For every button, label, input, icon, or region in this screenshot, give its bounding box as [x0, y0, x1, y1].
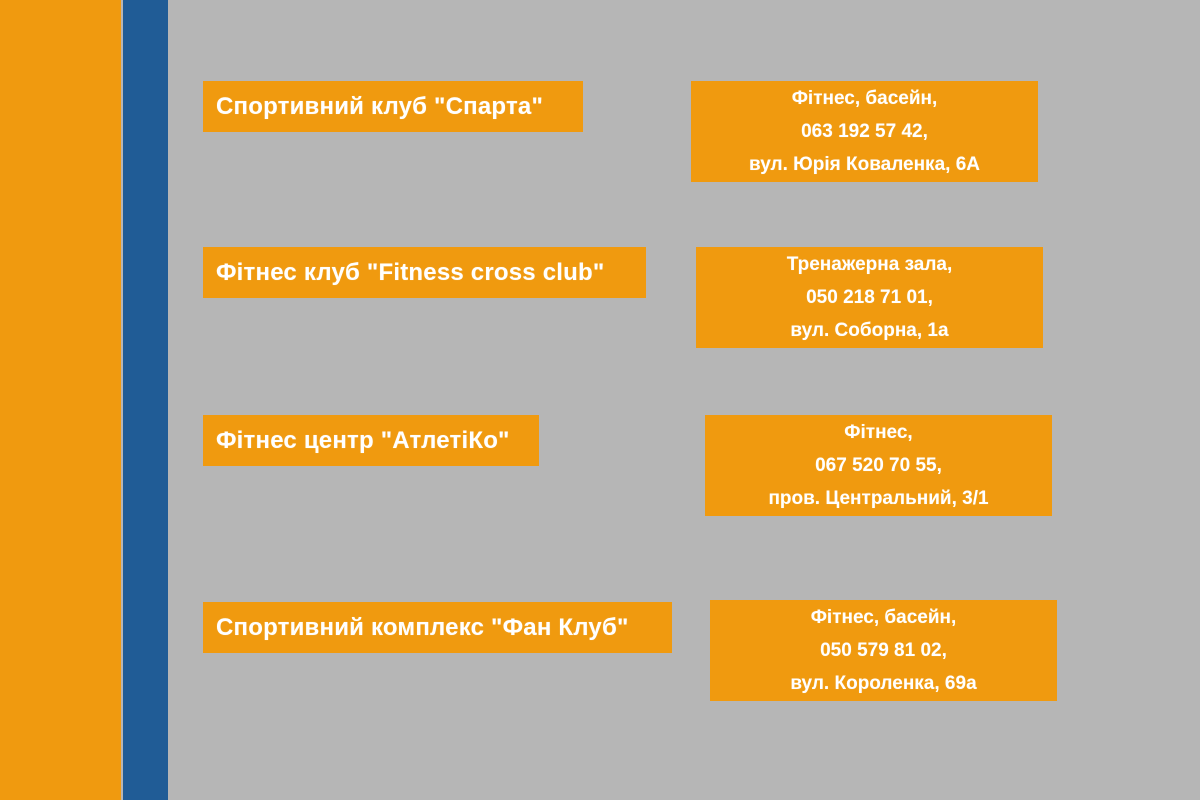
club-name-box[interactable]: Фітнес клуб "Fitness cross club" [203, 247, 646, 298]
club-phone-label: 063 192 57 42, [801, 115, 928, 148]
left-orange-band [0, 0, 121, 800]
club-name-label: Спортивний клуб "Спарта" [216, 93, 543, 121]
club-services-label: Фітнес, басейн, [792, 82, 938, 115]
club-details-box[interactable]: Фітнес, басейн, 050 579 81 02, вул. Коро… [710, 600, 1057, 701]
club-phone-label: 050 218 71 01, [806, 281, 933, 314]
club-name-label: Фітнес клуб "Fitness cross club" [216, 259, 604, 287]
club-details-box[interactable]: Фітнес, басейн, 063 192 57 42, вул. Юрія… [691, 81, 1038, 182]
left-blue-band [123, 0, 168, 800]
club-name-box[interactable]: Спортивний комплекс "Фан Клуб" [203, 602, 672, 653]
club-phone-label: 050 579 81 02, [820, 634, 947, 667]
slide-canvas: Спортивний клуб "Спарта" Фітнес, басейн,… [0, 0, 1200, 800]
club-name-box[interactable]: Фітнес центр "АтлетіКо" [203, 415, 539, 466]
club-name-label: Фітнес центр "АтлетіКо" [216, 427, 510, 455]
club-name-label: Спортивний комплекс "Фан Клуб" [216, 614, 629, 642]
club-details-box[interactable]: Фітнес, 067 520 70 55, пров. Центральний… [705, 415, 1052, 516]
clubs-list: Спортивний клуб "Спарта" Фітнес, басейн,… [168, 0, 1200, 800]
club-services-label: Тренажерна зала, [787, 248, 953, 281]
club-address-label: пров. Центральний, 3/1 [768, 482, 988, 515]
club-address-label: вул. Юрія Коваленка, 6А [749, 148, 980, 181]
club-address-label: вул. Соборна, 1а [790, 314, 948, 347]
club-name-box[interactable]: Спортивний клуб "Спарта" [203, 81, 583, 132]
club-address-label: вул. Короленка, 69а [790, 667, 976, 700]
club-services-label: Фітнес, басейн, [811, 601, 957, 634]
club-phone-label: 067 520 70 55, [815, 449, 942, 482]
club-details-box[interactable]: Тренажерна зала, 050 218 71 01, вул. Соб… [696, 247, 1043, 348]
club-services-label: Фітнес, [844, 416, 912, 449]
